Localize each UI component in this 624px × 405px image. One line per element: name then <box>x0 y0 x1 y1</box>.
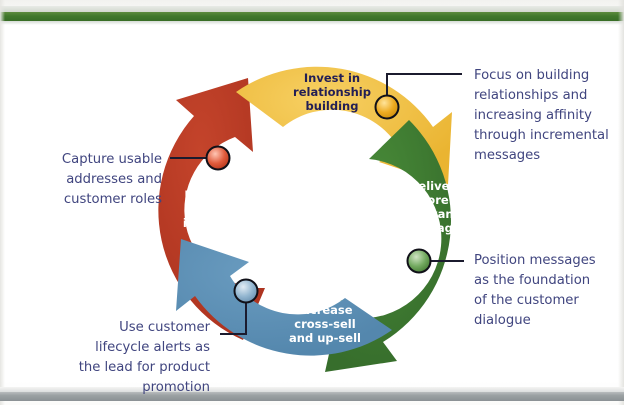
svg-text:relationships and: relationships and <box>474 88 587 103</box>
svg-text:building: building <box>306 99 359 113</box>
cycle-label-increase: Increase cross-sell and up-sell <box>289 303 361 345</box>
svg-text:Improve: Improve <box>184 188 238 202</box>
svg-text:messages: messages <box>474 148 540 163</box>
svg-text:Capture usable: Capture usable <box>62 152 162 167</box>
svg-text:data: data <box>196 202 225 216</box>
svg-text:Deliver: Deliver <box>409 179 456 193</box>
svg-text:addresses and: addresses and <box>66 172 162 187</box>
svg-text:lifecycle alerts as: lifecycle alerts as <box>95 340 210 355</box>
cycle-diagram: Invest in relationship building Deliver … <box>0 0 624 405</box>
callout-increase: Use customer lifecycle alerts as the lea… <box>79 320 211 395</box>
svg-text:more: more <box>415 193 449 207</box>
svg-text:message: message <box>403 221 460 235</box>
svg-text:and up-sell: and up-sell <box>289 331 361 345</box>
svg-text:integrity: integrity <box>183 216 240 230</box>
svg-text:relevant: relevant <box>405 207 460 221</box>
svg-text:increasing affinity: increasing affinity <box>474 108 592 123</box>
svg-text:the lead for product: the lead for product <box>79 360 210 375</box>
svg-text:as the foundation: as the foundation <box>474 273 590 288</box>
svg-text:through incremental: through incremental <box>474 128 609 143</box>
svg-text:customer roles: customer roles <box>64 192 162 207</box>
callout-deliver: Position messages as the foundation of t… <box>474 253 596 328</box>
svg-text:Position messages: Position messages <box>474 253 596 268</box>
svg-text:relationship: relationship <box>293 85 371 99</box>
cycle-label-deliver: Deliver more relevant message <box>403 179 460 235</box>
callout-invest: Focus on building relationships and incr… <box>474 68 609 163</box>
cycle-dot-increase[interactable] <box>235 280 258 303</box>
cycle-dot-improve[interactable] <box>207 147 230 170</box>
cycle-dot-deliver[interactable] <box>408 250 431 273</box>
cycle-label-improve: Improve data integrity <box>183 188 240 230</box>
svg-text:Increase: Increase <box>297 303 352 317</box>
svg-text:dialogue: dialogue <box>474 313 531 328</box>
cycle-dot-invest[interactable] <box>376 96 399 119</box>
svg-text:of the customer: of the customer <box>474 293 579 308</box>
svg-text:Focus on building: Focus on building <box>474 68 589 83</box>
svg-text:promotion: promotion <box>142 380 210 395</box>
svg-text:Use customer: Use customer <box>119 320 211 335</box>
callout-improve: Capture usable addresses and customer ro… <box>62 152 162 207</box>
svg-text:cross-sell: cross-sell <box>294 317 355 331</box>
svg-text:Invest in: Invest in <box>304 71 360 85</box>
